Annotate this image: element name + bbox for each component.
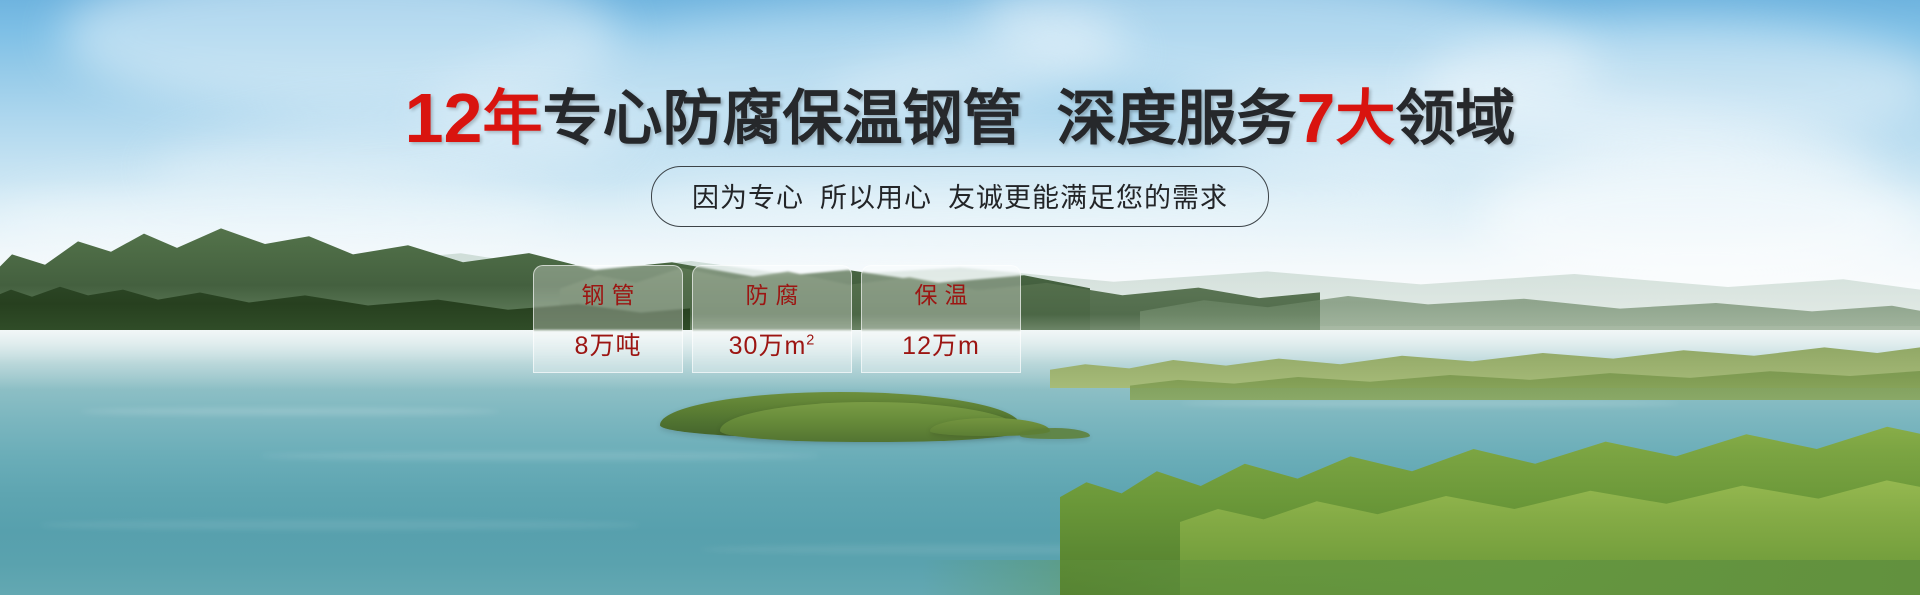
stat-card-insulation: 保温 12万m xyxy=(861,265,1021,373)
stat-card-label: 保温 xyxy=(908,276,975,310)
stat-card-value: 12万m xyxy=(902,326,980,362)
water-ripple xyxy=(1180,400,1680,407)
subtitle-part-1: 因为专心 xyxy=(692,183,804,213)
stat-card-group: 钢管 8万吨 防腐 30万m2 保温 12万m xyxy=(533,265,1021,373)
stat-card-value: 30万m2 xyxy=(729,326,816,362)
headline-main-text: 专心防腐保温钢管 xyxy=(542,85,1022,152)
water-ripple xyxy=(80,408,500,415)
banner-headline: 12年专心防腐保温钢管深度服务7大领域 xyxy=(0,83,1920,153)
headline-years-number: 12 xyxy=(405,79,483,157)
subtitle-part-3: 友诚更能满足您的需求 xyxy=(948,183,1228,213)
headline-fields-number: 7 xyxy=(1296,79,1335,157)
banner-subtitle-pill: 因为专心所以用心友诚更能满足您的需求 xyxy=(651,166,1269,227)
headline-fields-unit: 大 xyxy=(1335,85,1395,152)
headline-fields-text: 领域 xyxy=(1395,85,1515,152)
stat-card-value-main: 12万m xyxy=(902,332,980,360)
banner-subtitle-container: 因为专心所以用心友诚更能满足您的需求 xyxy=(0,166,1920,227)
stat-card-value: 8万吨 xyxy=(575,326,642,362)
grass-islet-small xyxy=(1020,428,1090,439)
grass-bottom-edge xyxy=(0,560,1920,595)
water-ripple xyxy=(40,520,640,530)
stat-card-value-main: 8万吨 xyxy=(575,332,642,360)
stat-card-value-main: 30万m xyxy=(729,332,807,360)
hero-banner: 12年专心防腐保温钢管深度服务7大领域 因为专心所以用心友诚更能满足您的需求 钢… xyxy=(0,0,1920,595)
stat-card-value-superscript: 2 xyxy=(806,333,815,349)
stat-card-label: 钢管 xyxy=(575,276,642,310)
stat-card-label: 防腐 xyxy=(739,276,806,310)
water-ripple xyxy=(260,452,820,460)
headline-years-unit: 年 xyxy=(482,85,542,152)
headline-service-text: 深度服务 xyxy=(1056,85,1296,152)
subtitle-part-2: 所以用心 xyxy=(820,183,932,213)
stat-card-steel-pipe: 钢管 8万吨 xyxy=(533,265,683,373)
stat-card-anticorrosion: 防腐 30万m2 xyxy=(692,265,852,373)
